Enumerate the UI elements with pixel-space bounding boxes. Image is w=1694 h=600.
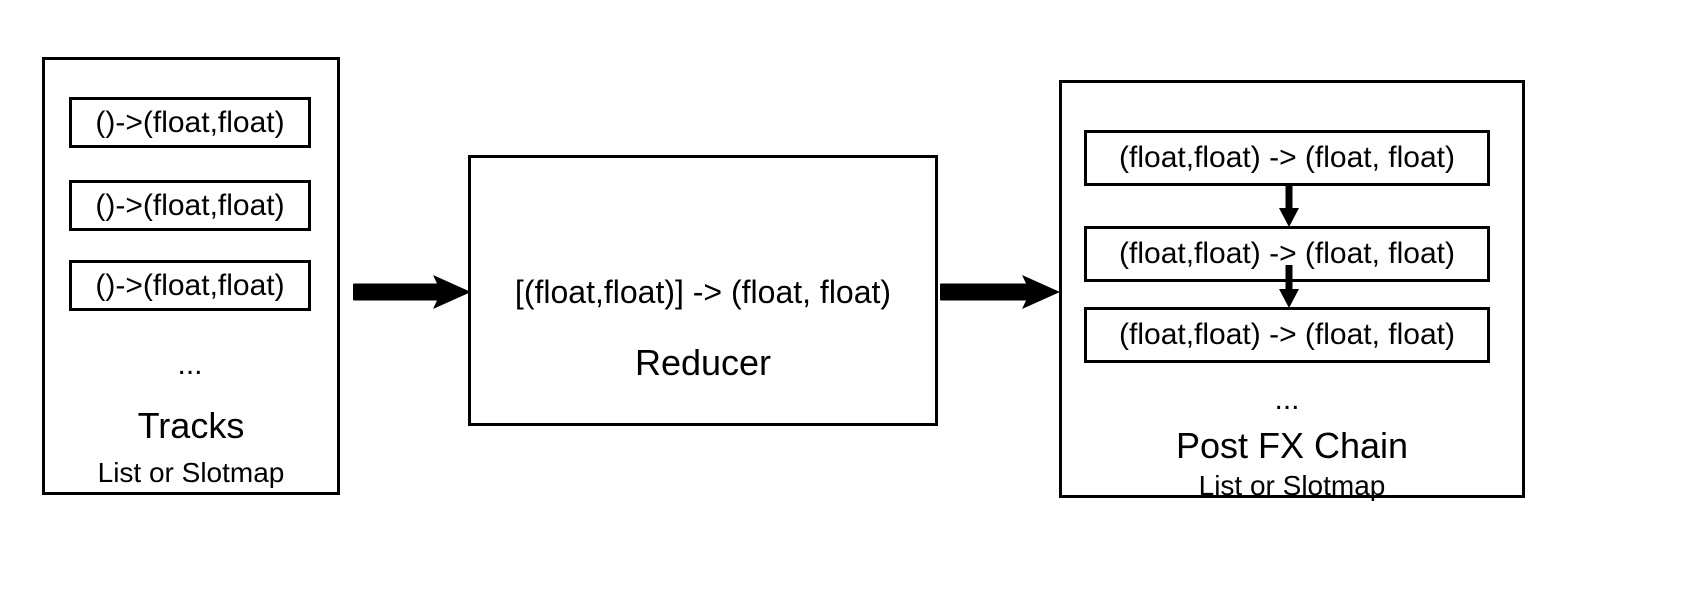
arrow-postfx-1-to-2 xyxy=(1276,184,1302,228)
track-item-1[interactable]: ()->(float,float) xyxy=(69,97,311,148)
arrow-tracks-to-reducer xyxy=(353,272,473,312)
reducer-signature: [(float,float)] -> (float, float) xyxy=(468,276,938,308)
postfx-item-1[interactable]: (float,float) -> (float, float) xyxy=(1084,130,1490,186)
diagram-canvas: ()->(float,float) ()->(float,float) ()->… xyxy=(0,0,1694,600)
reducer-name: Reducer xyxy=(468,345,938,381)
postfx-caption: Post FX Chain xyxy=(1059,428,1525,464)
postfx-item-label: (float,float) -> (float, float) xyxy=(1119,320,1455,350)
postfx-item-label: (float,float) -> (float, float) xyxy=(1119,143,1455,173)
track-item-label: ()->(float,float) xyxy=(95,191,284,221)
postfx-ellipsis: ... xyxy=(1084,385,1490,415)
tracks-subcaption: List or Slotmap xyxy=(42,459,340,487)
tracks-ellipsis: ... xyxy=(69,350,311,380)
postfx-item-3[interactable]: (float,float) -> (float, float) xyxy=(1084,307,1490,363)
tracks-caption: Tracks xyxy=(42,408,340,444)
track-item-3[interactable]: ()->(float,float) xyxy=(69,260,311,311)
arrow-reducer-to-postfx xyxy=(940,272,1062,312)
track-item-2[interactable]: ()->(float,float) xyxy=(69,180,311,231)
arrow-postfx-2-to-3 xyxy=(1276,265,1302,309)
track-item-label: ()->(float,float) xyxy=(95,271,284,301)
postfx-subcaption: List or Slotmap xyxy=(1059,472,1525,500)
track-item-label: ()->(float,float) xyxy=(95,108,284,138)
